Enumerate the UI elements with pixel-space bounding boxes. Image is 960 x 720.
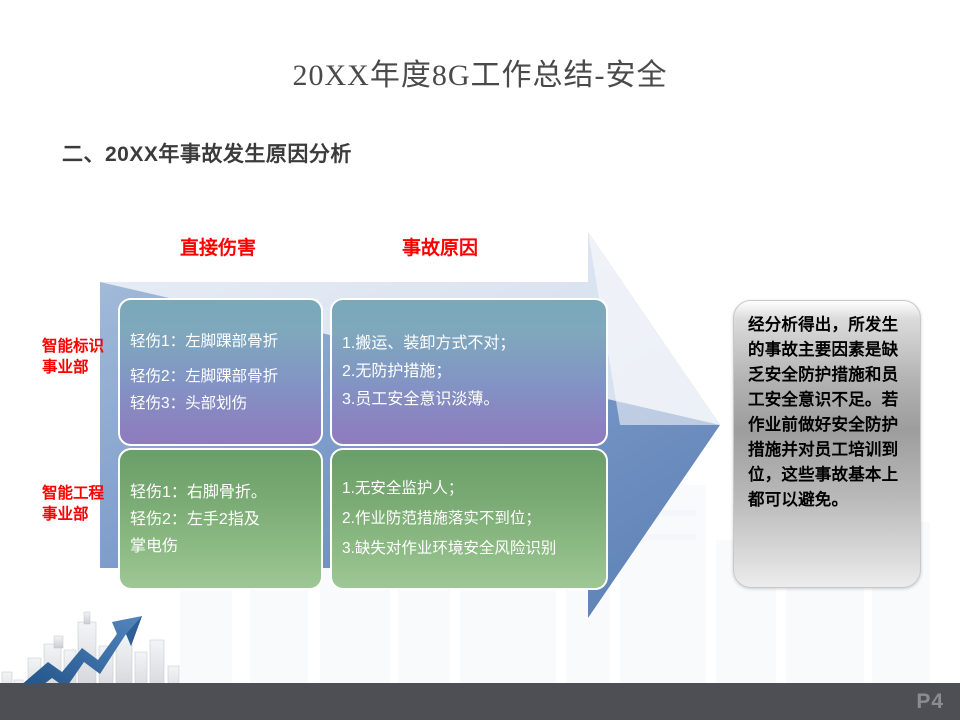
- cause-line: 1.无安全监护人；: [342, 474, 596, 504]
- injury-line: 轻伤1：右脚骨折。: [130, 479, 311, 506]
- section-heading: 二、20XX年事故发生原因分析: [62, 138, 352, 168]
- slide-canvas: 20XX年度8G工作总结-安全 二、20XX年事故发生原因分析 直接伤害 事故原…: [0, 0, 960, 720]
- cause-line: 1.搬运、装卸方式不对；: [342, 330, 596, 358]
- cause-line: 2.无防护措施；: [342, 358, 596, 386]
- column-header-cause: 事故原因: [402, 233, 478, 260]
- column-header-injury: 直接伤害: [180, 233, 256, 260]
- cause-line: 2.作业防范措施落实不到位；: [342, 504, 596, 534]
- injury-line: 轻伤3：头部划伤: [130, 390, 311, 417]
- injury-box-division-1[interactable]: 轻伤1：左脚踝部骨折 轻伤2：左脚踝部骨折 轻伤3：头部划伤: [118, 298, 323, 446]
- injury-line: 掌电伤: [130, 533, 311, 560]
- injury-box-division-2[interactable]: 轻伤1：右脚骨折。 轻伤2：左手2指及 掌电伤: [118, 448, 323, 590]
- injury-line: 轻伤2：左脚踝部骨折: [130, 363, 311, 390]
- cause-line: 3.员工安全意识淡薄。: [342, 386, 596, 414]
- page-number: P4: [916, 690, 944, 714]
- cause-box-division-1[interactable]: 1.搬运、装卸方式不对； 2.无防护措施； 3.员工安全意识淡薄。: [330, 298, 608, 446]
- cause-line: 3.缺失对作业环境安全风险识别: [342, 534, 596, 564]
- footer-bar: [0, 683, 960, 720]
- injury-line: 轻伤1：左脚踝部骨折: [130, 328, 311, 355]
- injury-line-spacer: [130, 355, 311, 363]
- cause-box-division-2[interactable]: 1.无安全监护人； 2.作业防范措施落实不到位； 3.缺失对作业环境安全风险识别: [330, 448, 608, 590]
- conclusion-text: 经分析得出，所发生的事故主要因素是缺乏安全防护措施和员工安全意识不足。若作业前做…: [734, 301, 920, 513]
- row-label-division-2: 智能工程事业部: [42, 483, 116, 525]
- row-label-division-1: 智能标识事业部: [42, 336, 116, 378]
- conclusion-callout[interactable]: 经分析得出，所发生的事故主要因素是缺乏安全防护措施和员工安全意识不足。若作业前做…: [733, 300, 921, 588]
- page-title: 20XX年度8G工作总结-安全: [0, 50, 960, 94]
- injury-line: 轻伤2：左手2指及: [130, 506, 311, 533]
